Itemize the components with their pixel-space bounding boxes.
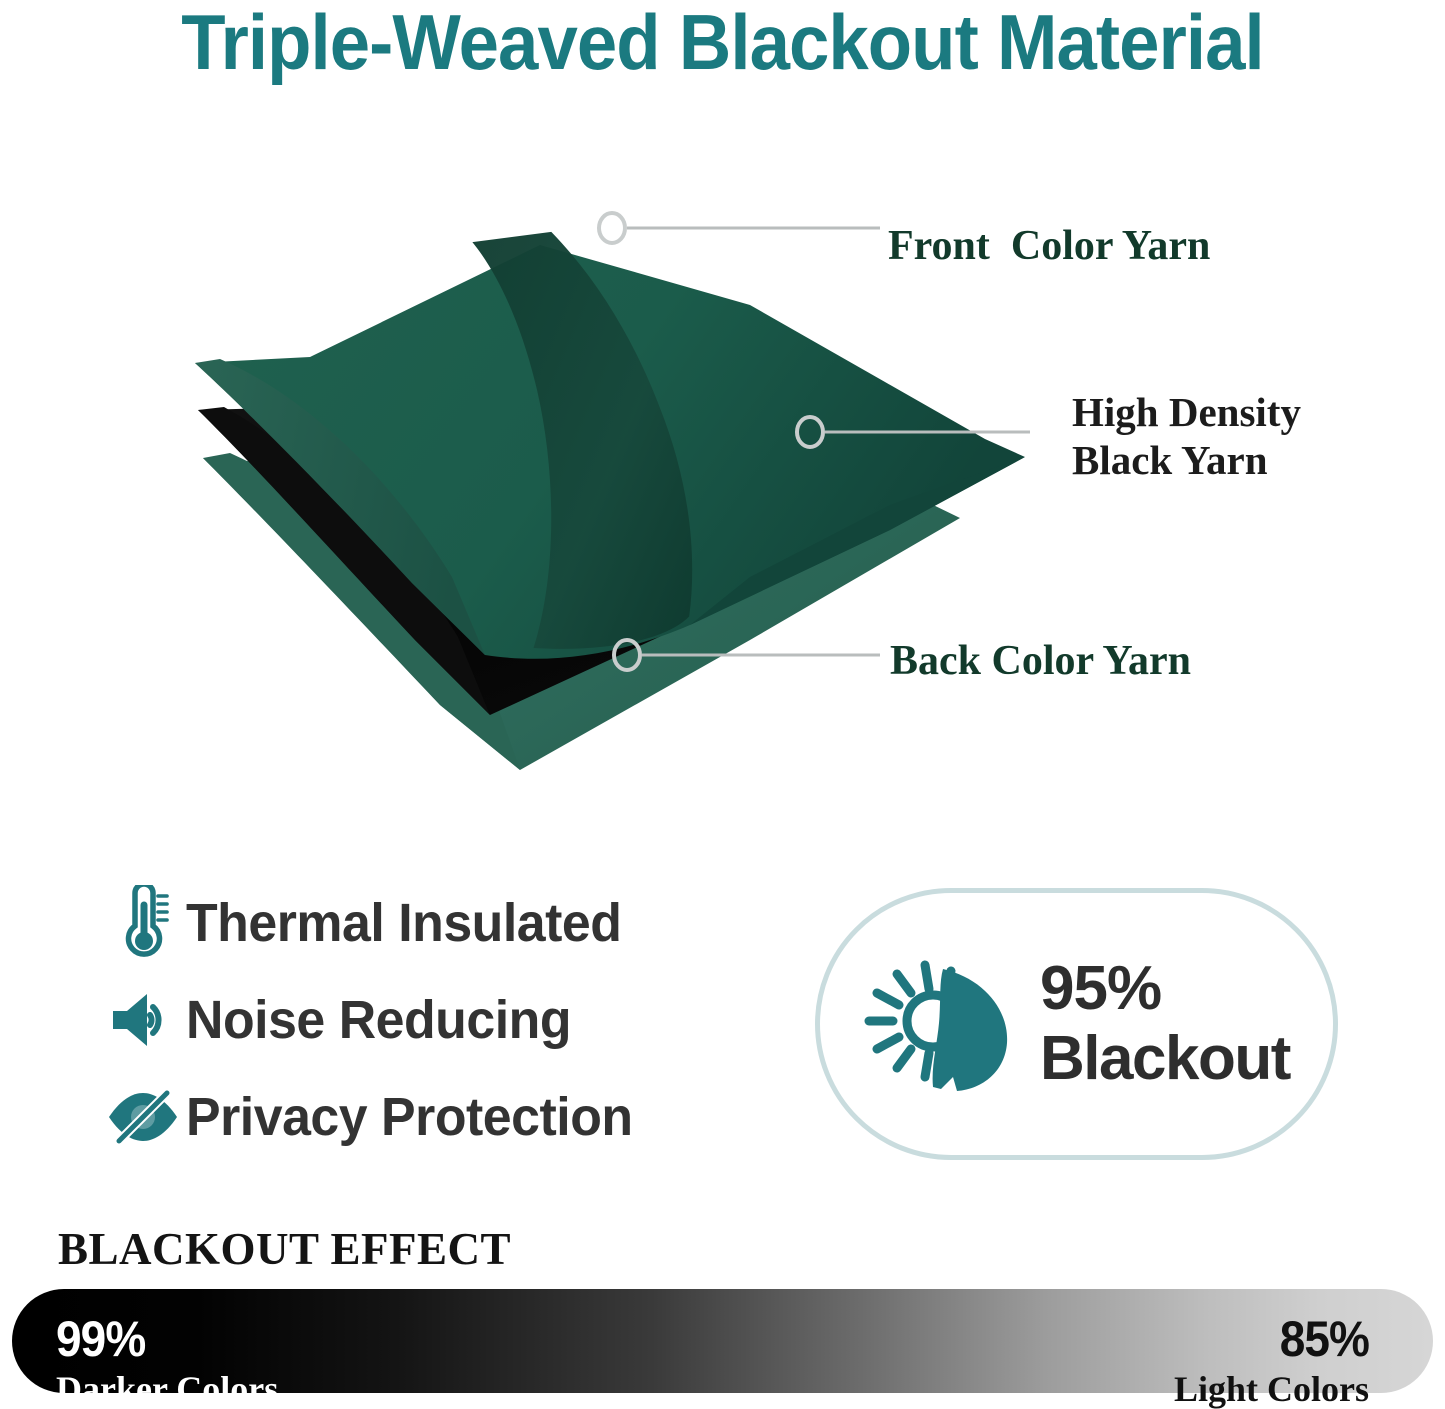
badge-percent: 95% [1040,958,1319,1020]
callout-black-line1: High Density [1072,389,1301,435]
light-end-caption: Light Colors [1174,1371,1369,1407]
blackout-effect-light-end: 85% Light Colors [1174,1314,1369,1407]
light-end-percent: 85% [1190,1314,1369,1364]
blackout-effect-dark-end: 99% Darker Colors [56,1314,278,1407]
callout-label-back-color-yarn: Back Color Yarn [890,637,1191,687]
dark-end-caption: Darker Colors [56,1371,278,1407]
feature-label-noise-reducing: Noise Reducing [186,990,571,1050]
callout-black-line2: Black Yarn [1072,436,1301,484]
sun-blocked-icon [820,949,1040,1099]
badge-word: Blackout [1040,1028,1319,1090]
page-title: Triple-Weaved Blackout Material [51,0,1395,88]
feature-label-thermal-insulated: Thermal Insulated [186,893,621,953]
blackout-effect-heading: BLACKOUT EFFECT [58,1222,511,1276]
top-green-sheet [195,221,1025,659]
feature-row-privacy-protection: Privacy Protection [100,1074,760,1160]
dark-end-percent: 99% [56,1314,261,1364]
leader-front [599,213,880,243]
eye-slash-icon [100,1089,186,1145]
callout-label-high-density-black-yarn: High DensityBlack Yarn [1072,388,1301,485]
feature-row-noise-reducing: Noise Reducing [100,977,760,1063]
thermometer-icon [100,885,186,961]
blackout-percentage-badge: 95% Blackout [815,888,1338,1160]
feature-row-thermal-insulated: Thermal Insulated [100,880,760,966]
speaker-volume-icon [100,989,186,1051]
feature-list: Thermal Insulated Noise Reducing Privacy… [100,880,760,1171]
feature-label-privacy-protection: Privacy Protection [186,1087,633,1147]
callout-label-front-color-yarn: Front Color Yarn [888,222,1210,272]
badge-text-group: 95% Blackout [1040,958,1333,1090]
